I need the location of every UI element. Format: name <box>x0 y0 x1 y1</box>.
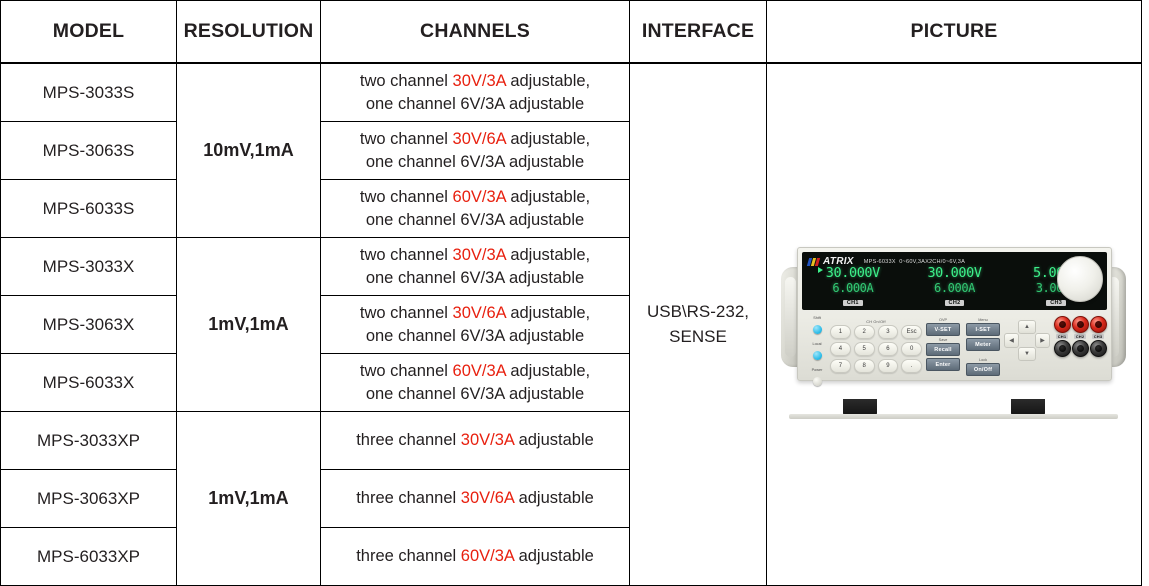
channel-tag-ch2-label: CH2 <box>945 300 965 306</box>
onoff-button-wrap: Lock On/Off <box>966 358 1000 376</box>
interface-line-2: SENSE <box>630 325 766 350</box>
screenshot-root: MODEL RESOLUTION CHANNELS INTERFACE PICT… <box>0 0 1149 557</box>
channels-rating: 30V/3A <box>453 246 506 264</box>
terminal-pair-ch1: CH1 <box>1054 316 1070 357</box>
shift-button-dot-icon <box>813 325 822 334</box>
cell-model: MPS-3063XP <box>1 470 177 528</box>
terminal-positive-ch1[interactable] <box>1054 316 1071 333</box>
channels-prefix: two channel <box>360 362 453 380</box>
channel-tag-ch1: CH1 <box>802 298 904 308</box>
channels-line-1: two channel 30V/3A adjustable, <box>321 70 629 92</box>
cell-resolution-group: 1mV,1mA <box>177 238 321 412</box>
channels-suffix: adjustable, <box>506 246 590 264</box>
readout-ch2-voltage: 30.000V <box>904 266 1006 281</box>
iset-button[interactable]: I-SET <box>966 323 1000 336</box>
terminal-pair-ch3: CH3 <box>1090 316 1106 357</box>
terminal-label-ch1: CH1 <box>1056 334 1068 339</box>
channels-rating: 60V/3A <box>453 362 506 380</box>
terminal-label-ch3: CH3 <box>1092 334 1104 339</box>
channels-line-1: two channel 60V/3A adjustable, <box>321 360 629 382</box>
output-terminals: CH1 CH2 <box>1054 316 1106 364</box>
channels-prefix: two channel <box>360 188 453 206</box>
terminal-positive-ch3[interactable] <box>1090 316 1107 333</box>
key-esc[interactable]: Esc <box>901 325 922 339</box>
arrow-down-icon[interactable]: ▼ <box>1018 347 1036 361</box>
key-7[interactable]: 7 <box>830 359 851 373</box>
channels-rating: 60V/3A <box>461 547 514 565</box>
keypad-row: 4 5 6 0 <box>830 342 922 356</box>
channels-rating: 30V/3A <box>453 72 506 90</box>
channel-tag-ch2: CH2 <box>904 298 1006 308</box>
function-button-grid: OVP V-SET Menu I-SET <box>926 318 1000 378</box>
interface-line-1: USB\RS-232, <box>630 300 766 325</box>
range-label: 0~60V,3AX2CH/0~6V,3A <box>899 259 965 265</box>
local-button[interactable]: Local <box>804 342 830 365</box>
terminal-grid: CH1 CH2 <box>1054 316 1106 357</box>
cell-resolution-group: 10mV,1mA <box>177 63 321 238</box>
power-supply-unit: ATRIX MPS-6033X 0~60V,3AX2CH/0~6V,3A 30.… <box>781 241 1126 401</box>
rotary-encoder-knob[interactable] <box>1057 256 1103 302</box>
cell-channels: three channel 30V/6A adjustable <box>321 470 630 528</box>
side-button-column: Shift Local Power <box>804 316 830 394</box>
channels-line-2: one channel 6V/3A adjustable <box>321 325 629 347</box>
power-button-icon <box>813 377 822 386</box>
cell-interface: USB\RS-232, SENSE <box>630 63 767 586</box>
channels-line-2: one channel 6V/3A adjustable <box>321 383 629 405</box>
column-header-resolution: RESOLUTION <box>177 1 321 64</box>
cell-channels: two channel 30V/6A adjustable, one chann… <box>321 122 630 180</box>
local-button-dot-icon <box>813 351 822 360</box>
column-header-picture: PICTURE <box>767 1 1142 64</box>
enter-button-wrap: Enter <box>926 358 960 376</box>
key-4[interactable]: 4 <box>830 342 851 356</box>
product-spec-table: MODEL RESOLUTION CHANNELS INTERFACE PICT… <box>0 0 1142 586</box>
cell-model: MPS-3063S <box>1 122 177 180</box>
function-button-row: OVP V-SET Menu I-SET <box>926 318 1000 336</box>
function-button-row: Save Recall Meter <box>926 338 1000 356</box>
matrix-slash-icon <box>807 258 820 266</box>
terminal-negative-ch1[interactable] <box>1054 340 1071 357</box>
channels-prefix: two channel <box>360 130 453 148</box>
key-dot[interactable]: . <box>901 359 922 373</box>
key-9[interactable]: 9 <box>878 359 899 373</box>
table-header: MODEL RESOLUTION CHANNELS INTERFACE PICT… <box>1 1 1142 64</box>
channels-line-1: three channel 30V/6A adjustable <box>321 487 629 509</box>
keypad-row: 1 2 3 Esc <box>830 325 922 339</box>
arrow-right-icon[interactable]: ▶ <box>1035 333 1050 348</box>
channels-rating: 30V/3A <box>461 431 514 449</box>
chassis-base <box>789 414 1118 419</box>
local-button-label: Local <box>804 342 830 347</box>
channel-tag-ch3-label: CH3 <box>1046 300 1066 306</box>
onoff-button[interactable]: On/Off <box>966 363 1000 376</box>
key-2[interactable]: 2 <box>854 325 875 339</box>
channels-line-1: two channel 30V/6A adjustable, <box>321 302 629 324</box>
enter-button[interactable]: Enter <box>926 358 960 371</box>
header-row: MODEL RESOLUTION CHANNELS INTERFACE PICT… <box>1 1 1142 64</box>
channels-line-2: one channel 6V/3A adjustable <box>321 93 629 115</box>
cell-channels: two channel 30V/3A adjustable, one chann… <box>321 63 630 122</box>
channels-line-1: three channel 60V/3A adjustable <box>321 545 629 567</box>
cell-model: MPS-3033S <box>1 63 177 122</box>
shift-button-label: Shift <box>804 316 830 321</box>
column-header-channels: CHANNELS <box>321 1 630 64</box>
terminal-label-ch2: CH2 <box>1074 334 1086 339</box>
shift-button[interactable]: Shift <box>804 316 830 339</box>
terminal-positive-ch2[interactable] <box>1072 316 1089 333</box>
terminal-negative-ch2[interactable] <box>1072 340 1089 357</box>
arrow-up-icon[interactable]: ▲ <box>1018 320 1036 334</box>
recall-button[interactable]: Recall <box>926 343 960 356</box>
cell-resolution-group: 1mV,1mA <box>177 412 321 586</box>
channels-line-1: two channel 30V/6A adjustable, <box>321 128 629 150</box>
arrow-left-icon[interactable]: ◀ <box>1004 333 1019 348</box>
channels-suffix: adjustable, <box>506 130 590 148</box>
model-code: MPS-6033X <box>864 259 896 265</box>
key-0[interactable]: 0 <box>901 342 922 356</box>
readout-ch2: 30.000V 6.000A <box>904 266 1006 298</box>
channels-line-1: three channel 30V/3A adjustable <box>321 429 629 451</box>
cell-model: MPS-6033X <box>1 354 177 412</box>
keypad-row: 7 8 9 . <box>830 359 922 373</box>
meter-button-wrap: Meter <box>966 338 1000 356</box>
chassis: ATRIX MPS-6033X 0~60V,3AX2CH/0~6V,3A 30.… <box>797 247 1112 381</box>
readout-ch1: 30.000V 6.000A <box>802 266 904 298</box>
readout-ch1-voltage: 30.000V <box>802 266 904 281</box>
channel-tag-row: CH1 CH2 CH3 <box>802 298 1107 308</box>
readout-ch2-current: 6.000A <box>904 281 1006 295</box>
key-6[interactable]: 6 <box>878 342 899 356</box>
channels-suffix: adjustable <box>514 431 594 449</box>
iset-button-wrap: Menu I-SET <box>966 318 1000 336</box>
channels-suffix: adjustable, <box>506 72 590 90</box>
terminal-negative-ch3[interactable] <box>1090 340 1107 357</box>
vset-button-wrap: OVP V-SET <box>926 318 960 336</box>
key-3[interactable]: 3 <box>878 325 899 339</box>
key-1[interactable]: 1 <box>830 325 851 339</box>
channel-tag-ch3: CH3 <box>1005 298 1107 308</box>
column-header-model: MODEL <box>1 1 177 64</box>
channels-suffix: adjustable, <box>506 188 590 206</box>
cell-model: MPS-6033S <box>1 180 177 238</box>
power-button[interactable]: Power <box>804 368 830 391</box>
control-panel: Shift Local Power <box>802 314 1107 366</box>
channels-prefix: two channel <box>360 72 453 90</box>
terminal-pair-ch2: CH2 <box>1072 316 1088 357</box>
channels-line-1: two channel 30V/3A adjustable, <box>321 244 629 266</box>
readout-ch1-current: 6.000A <box>802 281 904 295</box>
numeric-keypad: CH On/Off 1 2 3 Esc 4 <box>830 320 922 376</box>
channels-line-1: two channel 60V/3A adjustable, <box>321 186 629 208</box>
cell-channels: two channel 60V/3A adjustable, one chann… <box>321 180 630 238</box>
channels-line-2: one channel 6V/3A adjustable <box>321 209 629 231</box>
cell-model: MPS-3033X <box>1 238 177 296</box>
channels-suffix: adjustable, <box>506 362 590 380</box>
display-model-label: MPS-6033X 0~60V,3AX2CH/0~6V,3A <box>864 259 965 265</box>
table-row: MPS-3033S 10mV,1mA two channel 30V/3A ad… <box>1 63 1142 122</box>
cell-model: MPS-3063X <box>1 296 177 354</box>
cell-channels: two channel 30V/3A adjustable, one chann… <box>321 238 630 296</box>
channels-rating: 60V/3A <box>453 188 506 206</box>
channels-rating: 30V/6A <box>453 130 506 148</box>
channels-suffix: adjustable, <box>506 304 590 322</box>
channels-prefix: three channel <box>356 547 461 565</box>
power-button-label: Power <box>804 368 830 373</box>
function-button-row: Enter Lock On/Off <box>926 358 1000 376</box>
cell-picture: ATRIX MPS-6033X 0~60V,3AX2CH/0~6V,3A 30.… <box>767 63 1142 586</box>
key-5[interactable]: 5 <box>854 342 875 356</box>
key-8[interactable]: 8 <box>854 359 875 373</box>
channels-rating: 30V/6A <box>453 304 506 322</box>
channels-line-2: one channel 6V/3A adjustable <box>321 151 629 173</box>
channel-tag-ch1-label: CH1 <box>843 300 863 306</box>
table-body: MPS-3033S 10mV,1mA two channel 30V/3A ad… <box>1 63 1142 586</box>
vset-button[interactable]: V-SET <box>926 323 960 336</box>
meter-button[interactable]: Meter <box>966 338 1000 351</box>
channels-prefix: three channel <box>356 431 461 449</box>
channels-suffix: adjustable <box>514 489 594 507</box>
keypad-caption: CH On/Off <box>830 320 922 324</box>
recall-button-wrap: Save Recall <box>926 338 960 356</box>
channels-suffix: adjustable <box>514 547 594 565</box>
channels-line-2: one channel 6V/3A adjustable <box>321 267 629 289</box>
channels-prefix: two channel <box>360 246 453 264</box>
direction-pad: ▲ ▼ ◀ ▶ <box>1004 320 1048 360</box>
cell-channels: three channel 30V/3A adjustable <box>321 412 630 470</box>
cell-channels: two channel 60V/3A adjustable, one chann… <box>321 354 630 412</box>
cell-channels: two channel 30V/6A adjustable, one chann… <box>321 296 630 354</box>
channels-prefix: three channel <box>356 489 461 507</box>
channels-rating: 30V/6A <box>461 489 514 507</box>
channels-prefix: two channel <box>360 304 453 322</box>
cell-model: MPS-3033XP <box>1 412 177 470</box>
product-photo: ATRIX MPS-6033X 0~60V,3AX2CH/0~6V,3A 30.… <box>767 68 1140 581</box>
column-header-interface: INTERFACE <box>630 1 767 64</box>
